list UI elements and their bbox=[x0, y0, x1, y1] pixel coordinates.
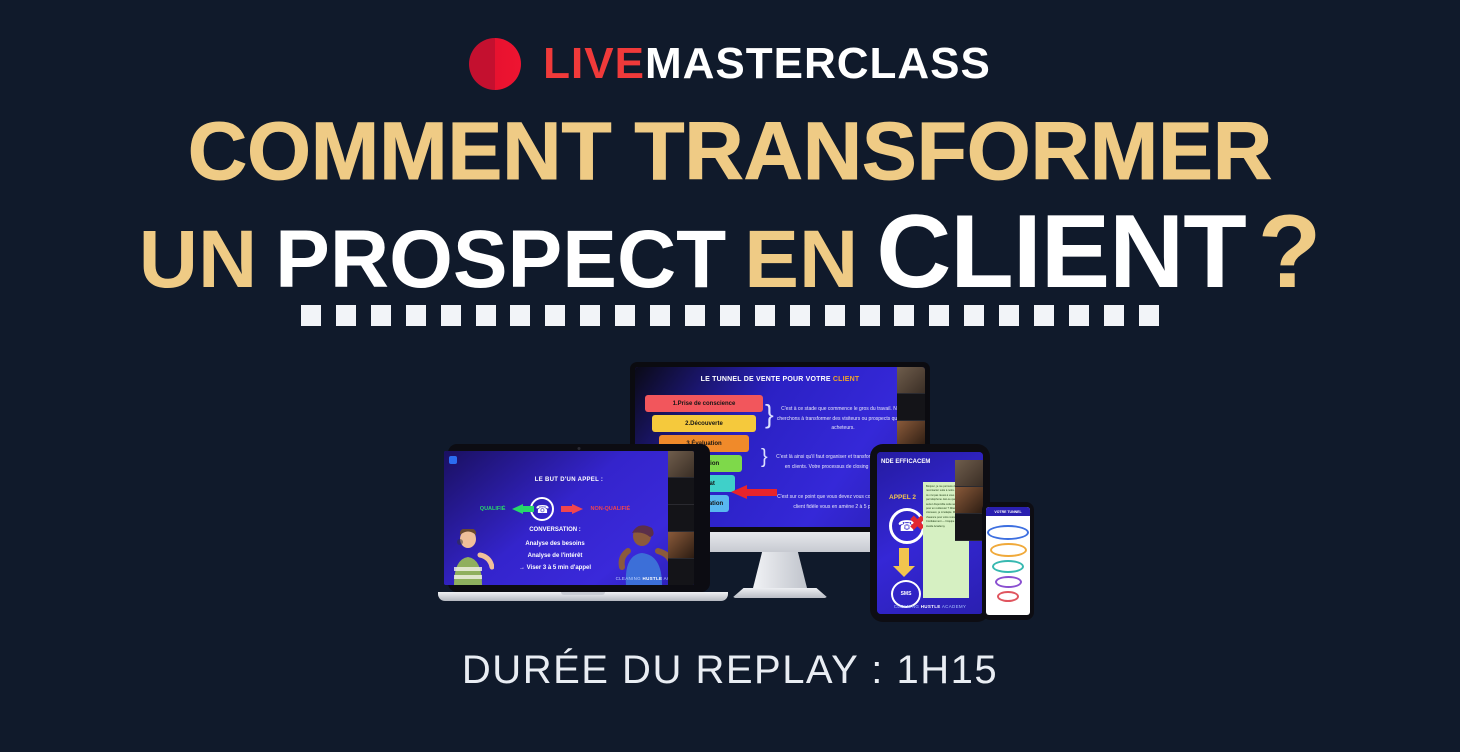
call-goal-heading: LE BUT D'UN APPEL : bbox=[444, 477, 694, 483]
live-record-dot-icon bbox=[469, 38, 521, 90]
tablet-mockup: NDE EFFICACEM APPEL 2 ☎ ✖ SMS Bonjour, j… bbox=[870, 444, 990, 622]
divider-dash bbox=[685, 305, 705, 326]
video-thumbnail bbox=[668, 505, 694, 532]
video-thumbnail bbox=[897, 394, 925, 421]
headline-un: UN bbox=[139, 219, 257, 301]
divider-dash bbox=[1034, 305, 1054, 326]
video-thumbnail bbox=[955, 514, 983, 541]
illustration-man-on-phone bbox=[446, 529, 494, 585]
tablet-video-sidebar bbox=[955, 460, 983, 538]
tablet-screen: NDE EFFICACEM APPEL 2 ☎ ✖ SMS Bonjour, j… bbox=[877, 452, 983, 614]
smartphone-mockup: VOTRE TUNNEL bbox=[982, 502, 1034, 620]
funnel-stage: 2.Découverte bbox=[652, 415, 756, 432]
video-thumbnail bbox=[668, 532, 694, 559]
slide-logo-icon bbox=[449, 456, 457, 464]
brace-icon-bottom: } bbox=[761, 447, 768, 467]
headline-question-mark: ? bbox=[1258, 200, 1322, 304]
down-arrow-icon bbox=[899, 548, 909, 566]
video-thumbnail bbox=[955, 487, 983, 514]
laptop-screen: LE BUT D'UN APPEL : QUALIFIÉ ☎ NON-QUALI… bbox=[444, 451, 694, 585]
relance-slide-title: NDE EFFICACEM bbox=[881, 459, 930, 465]
divider-dash bbox=[476, 305, 496, 326]
divider-dash bbox=[336, 305, 356, 326]
funnel-ring bbox=[990, 543, 1027, 557]
divider-dash bbox=[860, 305, 880, 326]
divider-dash bbox=[650, 305, 670, 326]
video-thumbnail bbox=[668, 559, 694, 585]
funnel-slide-title: LE TUNNEL DE VENTE POUR VOTRE CLIENT bbox=[635, 376, 925, 383]
funnel-title-main: LE TUNNEL DE VENTE POUR VOTRE bbox=[701, 376, 833, 383]
brand-part-2: HUSTLE bbox=[643, 576, 663, 581]
divider-dash bbox=[894, 305, 914, 326]
headline-line-2: UN PROSPECT EN CLIENT ? bbox=[0, 200, 1460, 304]
headline-prospect: PROSPECT bbox=[275, 219, 726, 301]
qualification-row: QUALIFIÉ ☎ NON-QUALIFIÉ bbox=[444, 497, 666, 521]
video-thumbnail bbox=[955, 460, 983, 487]
laptop-mockup: LE BUT D'UN APPEL : QUALIFIÉ ☎ NON-QUALI… bbox=[438, 444, 728, 614]
laptop-video-sidebar bbox=[668, 451, 694, 585]
live-masterclass-banner: LIVEMASTERCLASS bbox=[0, 38, 1460, 90]
video-thumbnail bbox=[668, 451, 694, 478]
brand-part-1: CLEANING bbox=[894, 604, 921, 609]
device-mockup-group: LE TUNNEL DE VENTE POUR VOTRE CLIENT 1.P… bbox=[430, 352, 1050, 634]
poster-canvas: LIVEMASTERCLASS COMMENT TRANSFORMER UN P… bbox=[0, 0, 1460, 752]
brand-part-2: HUSTLE bbox=[921, 604, 941, 609]
sms-label: SMS bbox=[901, 591, 912, 597]
funnel-paragraph-1: C'est à ce stade que commence le gros du… bbox=[773, 405, 913, 434]
divider-dash bbox=[1104, 305, 1124, 326]
divider-dash bbox=[580, 305, 600, 326]
divider-dash bbox=[545, 305, 565, 326]
divider-dash bbox=[441, 305, 461, 326]
video-thumbnail bbox=[668, 478, 694, 505]
divider-dash bbox=[615, 305, 635, 326]
funnel-ring bbox=[987, 525, 1029, 540]
headline-en: EN bbox=[744, 219, 858, 301]
masterclass-label: MASTERCLASS bbox=[645, 39, 991, 88]
funnel-ring bbox=[997, 591, 1019, 602]
divider-dash bbox=[406, 305, 426, 326]
monitor-stand-neck bbox=[752, 552, 808, 592]
page-title: COMMENT TRANSFORMER UN PROSPECT EN CLIEN… bbox=[0, 112, 1460, 304]
funnel-ring bbox=[992, 560, 1024, 573]
divider-dash bbox=[755, 305, 775, 326]
red-arrow-icon bbox=[731, 485, 777, 499]
brand-part-3: ACADEMY bbox=[941, 604, 967, 609]
headline-client: CLIENT bbox=[876, 200, 1246, 304]
divider-dash bbox=[999, 305, 1019, 326]
divider-dash bbox=[301, 305, 321, 326]
funnel-rings-diagram bbox=[986, 516, 1030, 602]
funnel-title-accent: CLIENT bbox=[833, 376, 859, 383]
monitor-stand-base bbox=[732, 588, 828, 598]
qualified-label: QUALIFIÉ bbox=[480, 506, 506, 512]
divider-dash bbox=[929, 305, 949, 326]
headline-line-1: COMMENT TRANSFORMER bbox=[0, 112, 1460, 192]
phone-slide-title: VOTRE TUNNEL bbox=[994, 510, 1021, 514]
funnel-ring bbox=[995, 576, 1022, 588]
laptop-webcam-icon bbox=[578, 447, 581, 450]
video-thumbnail bbox=[897, 367, 925, 394]
live-label: LIVE bbox=[543, 39, 645, 88]
tablet-brand-footer: CLEANING HUSTLE ACADEMY bbox=[877, 604, 983, 609]
dashed-divider bbox=[301, 304, 1159, 326]
eyebrow-text: LIVEMASTERCLASS bbox=[543, 42, 991, 86]
divider-dash bbox=[1069, 305, 1089, 326]
relance-slide: NDE EFFICACEM APPEL 2 ☎ ✖ SMS Bonjour, j… bbox=[877, 452, 983, 614]
funnel-stage: 1.Prise de conscience bbox=[645, 395, 763, 412]
divider-dash bbox=[720, 305, 740, 326]
appel-label: APPEL 2 bbox=[889, 494, 916, 501]
divider-dash bbox=[1139, 305, 1159, 326]
divider-dash bbox=[825, 305, 845, 326]
divider-dash bbox=[964, 305, 984, 326]
red-right-arrow-icon bbox=[572, 504, 583, 514]
call-goal-slide: LE BUT D'UN APPEL : QUALIFIÉ ☎ NON-QUALI… bbox=[444, 451, 694, 585]
green-left-arrow-icon bbox=[512, 504, 523, 514]
phone-screen: VOTRE TUNNEL bbox=[986, 507, 1030, 615]
divider-dash bbox=[371, 305, 391, 326]
divider-dash bbox=[510, 305, 530, 326]
brand-part-1: CLEANING bbox=[616, 576, 643, 581]
replay-duration-text: DURÉE DU REPLAY : 1H15 bbox=[0, 648, 1460, 693]
phone-slide-title-bar: VOTRE TUNNEL bbox=[986, 507, 1030, 516]
laptop-base-notch bbox=[561, 592, 605, 595]
non-qualified-label: NON-QUALIFIÉ bbox=[590, 506, 630, 512]
divider-dash bbox=[790, 305, 810, 326]
